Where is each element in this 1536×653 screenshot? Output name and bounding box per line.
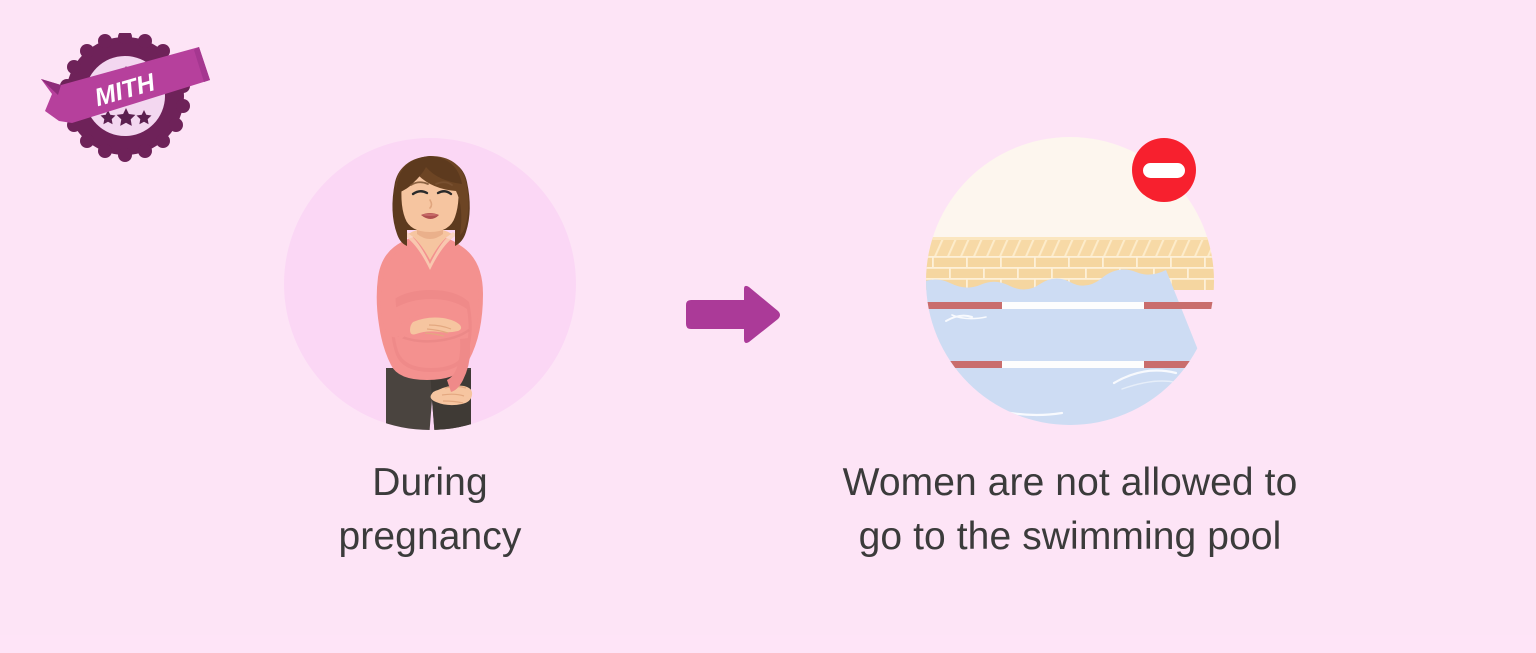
pregnant-woman-illustration <box>283 138 577 430</box>
deck-hatch <box>926 239 1218 257</box>
right-arrow-icon <box>682 285 792 347</box>
swimming-pool-illustration <box>926 135 1218 427</box>
myth-seal-icon: MITH <box>28 33 228 163</box>
lane-line-2 <box>926 361 1218 368</box>
infographic-canvas: MITH <box>0 0 1536 653</box>
right-caption: Women are not allowed to go to the swimm… <box>770 456 1370 564</box>
left-caption: During pregnancy <box>250 456 610 564</box>
bottom-strip <box>0 635 1536 653</box>
pool-water <box>926 270 1218 427</box>
myth-badge: MITH <box>28 33 228 163</box>
lane-line-1 <box>926 302 1218 309</box>
arrow-connector <box>682 285 792 347</box>
no-entry-icon <box>1132 138 1196 202</box>
